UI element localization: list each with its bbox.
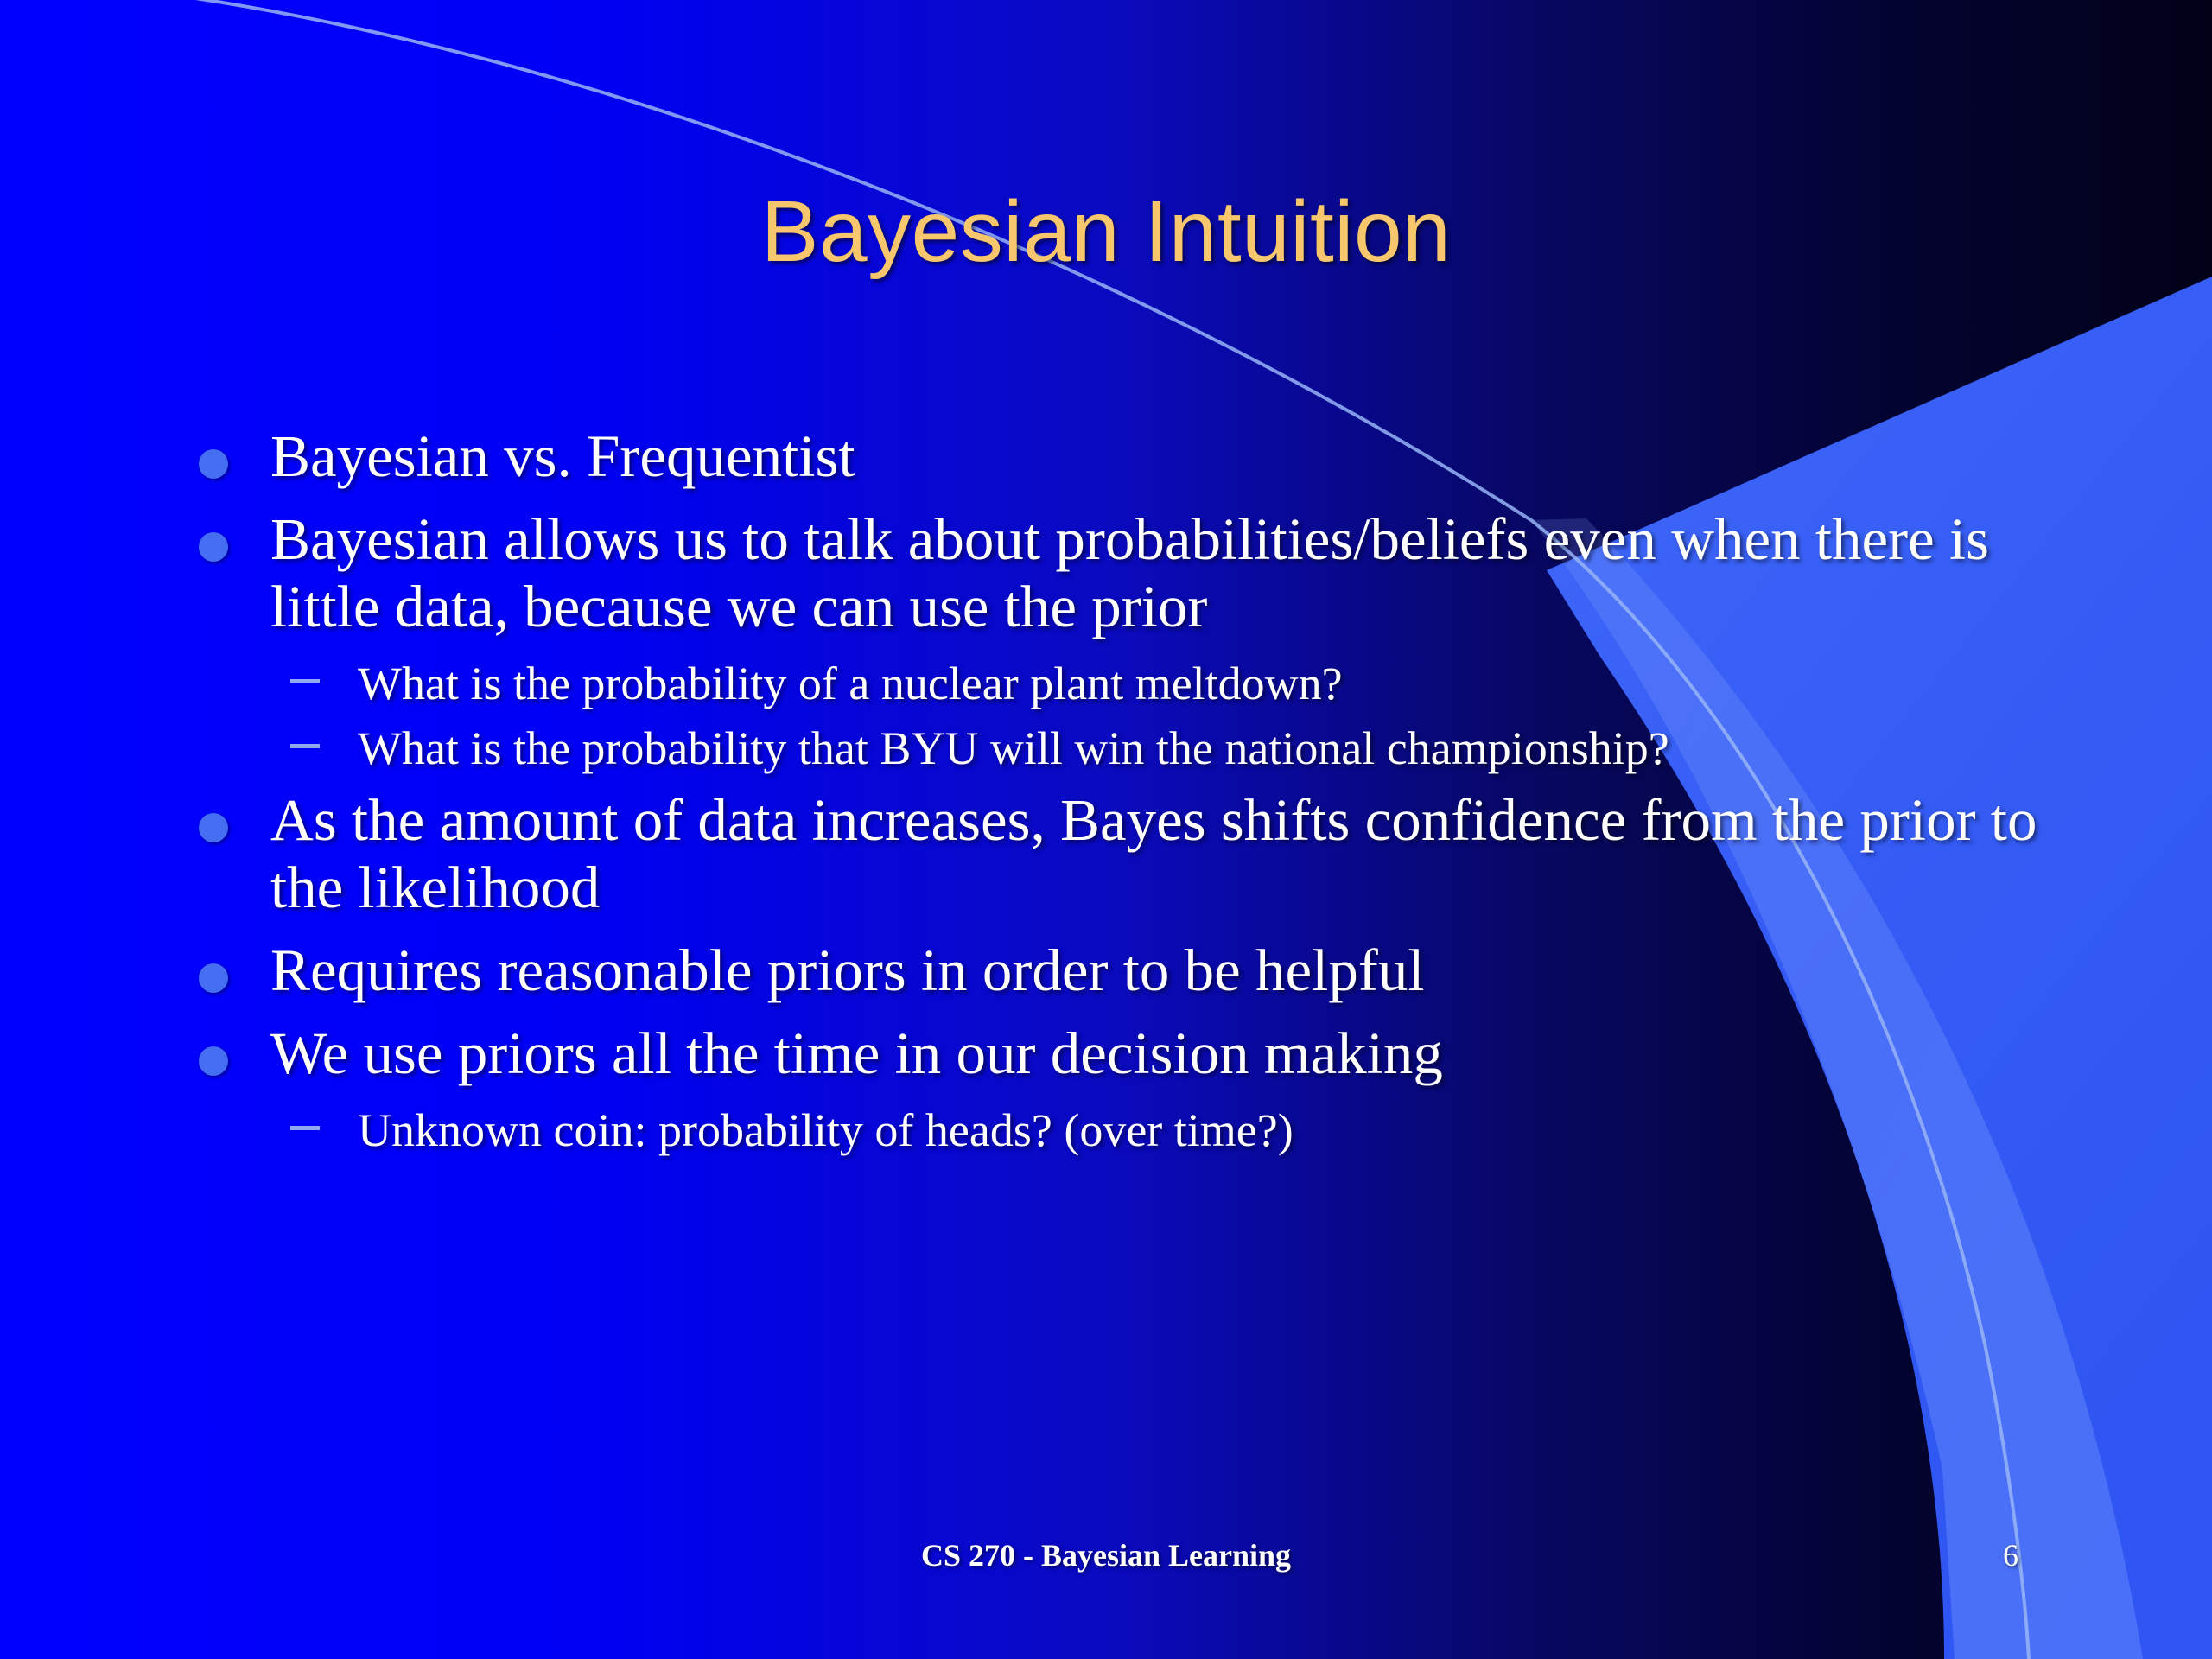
list-item: What is the probability of a nuclear pla…	[180, 657, 2072, 711]
dash-bullet-icon	[290, 744, 320, 748]
dash-bullet-icon	[290, 679, 320, 683]
disc-bullet-icon	[199, 1046, 228, 1076]
page-title: Bayesian Intuition	[0, 187, 2212, 277]
list-item-text: Bayesian allows us to talk about probabi…	[270, 506, 1989, 639]
list-item: We use priors all the time in our decisi…	[180, 1020, 2072, 1088]
list-item-text: Bayesian vs. Frequentist	[270, 423, 855, 489]
list-item-text: Requires reasonable priors in order to b…	[270, 938, 1425, 1003]
slide-page-number: 6	[2003, 1537, 2055, 1573]
bullet-list: Bayesian vs. Frequentist Bayesian allows…	[180, 423, 2072, 1170]
list-item: Bayesian vs. Frequentist	[180, 423, 2072, 491]
list-item-text: Unknown coin: probability of heads? (ove…	[358, 1104, 1294, 1156]
disc-bullet-icon	[199, 449, 228, 479]
list-item-text: We use priors all the time in our decisi…	[270, 1020, 1443, 1086]
list-item: What is the probability that BYU will wi…	[180, 721, 2072, 776]
sub-bullet-group: Unknown coin: probability of heads? (ove…	[180, 1103, 2072, 1158]
list-item: Bayesian allows us to talk about probabi…	[180, 506, 2072, 641]
disc-bullet-icon	[199, 532, 228, 562]
sub-bullet-group: What is the probability of a nuclear pla…	[180, 657, 2072, 775]
disc-bullet-icon	[199, 963, 228, 993]
list-item-text: As the amount of data increases, Bayes s…	[270, 787, 2037, 920]
slide-footer: CS 270 - Bayesian Learning	[0, 1537, 2212, 1573]
disc-bullet-icon	[199, 813, 228, 842]
list-item: As the amount of data increases, Bayes s…	[180, 787, 2072, 922]
list-item-text: What is the probability of a nuclear pla…	[358, 658, 1343, 709]
list-item-text: What is the probability that BYU will wi…	[358, 722, 1669, 774]
presentation-slide: Bayesian Intuition Bayesian vs. Frequent…	[0, 0, 2212, 1659]
list-item: Unknown coin: probability of heads? (ove…	[180, 1103, 2072, 1158]
list-item: Requires reasonable priors in order to b…	[180, 938, 2072, 1005]
dash-bullet-icon	[290, 1126, 320, 1130]
